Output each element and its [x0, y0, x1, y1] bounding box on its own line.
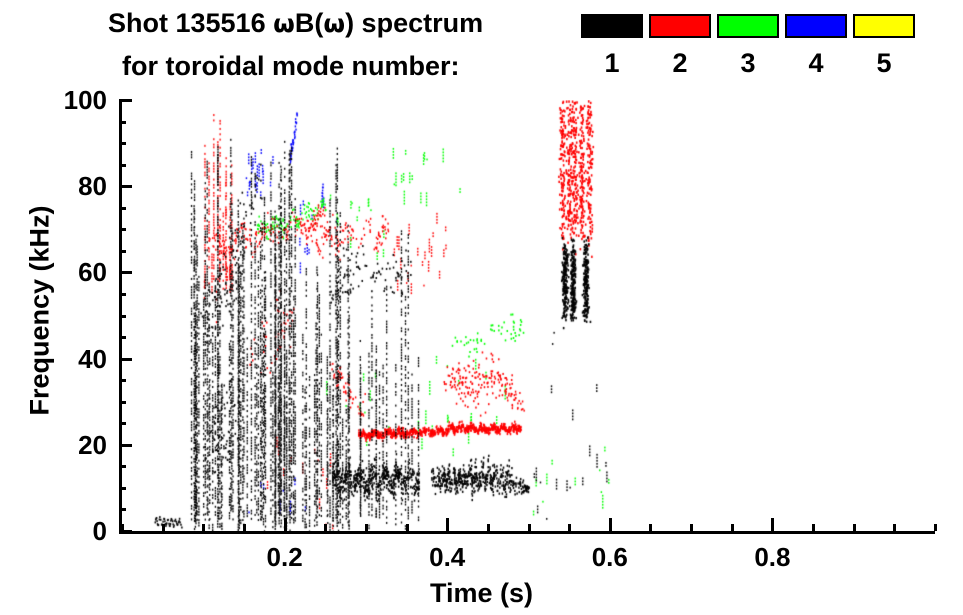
y-tick-25 [119, 422, 126, 425]
y-tick-35 [119, 379, 126, 382]
y-tick-20 [119, 444, 132, 447]
y-tick-65 [119, 250, 126, 253]
plot-area [119, 100, 935, 534]
legend-swatch-4 [785, 14, 847, 38]
x-tick-0.4 [446, 518, 449, 531]
y-tick-100 [119, 99, 132, 102]
y-tick-55 [119, 293, 126, 296]
y-tick-label-0: 0 [27, 518, 107, 544]
x-tick-0.3 [365, 524, 368, 531]
legend-swatch-2 [649, 14, 711, 38]
x-tick-label-0.8: 0.8 [732, 544, 812, 570]
y-tick-90 [119, 142, 126, 145]
x-tick-0.8 [771, 518, 774, 531]
x-tick-0.75 [731, 524, 734, 531]
y-tick-75 [119, 207, 126, 210]
x-tick-0.05 [162, 524, 165, 531]
x-tick-0.7 [690, 524, 693, 531]
y-axis-title: Frequency (kHz) [25, 111, 56, 511]
x-tick-0.1 [202, 524, 205, 531]
x-tick-0.65 [649, 524, 652, 531]
legend-swatch-3 [717, 14, 779, 38]
y-tick-60 [119, 271, 132, 274]
x-tick-0.45 [487, 524, 490, 531]
legend-label-4: 4 [785, 48, 847, 78]
x-tick-label-0.6: 0.6 [570, 544, 650, 570]
x-tick-0.85 [812, 524, 815, 531]
y-tick-30 [119, 401, 126, 404]
y-tick-45 [119, 336, 126, 339]
y-tick-label-100: 100 [27, 87, 107, 113]
x-tick-0.2 [284, 518, 287, 531]
x-tick-0.25 [324, 524, 327, 531]
x-tick-0.6 [609, 518, 612, 531]
y-tick-15 [119, 465, 126, 468]
x-tick-0.95 [893, 524, 896, 531]
legend-label-2: 2 [649, 48, 711, 78]
y-tick-50 [119, 315, 126, 318]
x-tick-label-0.2: 0.2 [245, 544, 325, 570]
x-axis-title: Time (s) [0, 578, 963, 609]
y-tick-70 [119, 228, 126, 231]
y-tick-40 [119, 358, 132, 361]
x-tick-1 [934, 524, 937, 531]
legend-label-1: 1 [581, 48, 643, 78]
legend-label-3: 3 [717, 48, 779, 78]
legend-swatch-5 [853, 14, 915, 38]
x-tick-0.55 [568, 524, 571, 531]
x-tick-0.5 [528, 524, 531, 531]
y-tick-5 [119, 508, 126, 511]
x-tick-label-0.4: 0.4 [407, 544, 487, 570]
x-tick-0.15 [243, 524, 246, 531]
y-tick-80 [119, 185, 132, 188]
spectrogram-canvas [122, 100, 935, 531]
legend-swatch-1 [581, 14, 643, 38]
legend-label-5: 5 [853, 48, 915, 78]
y-tick-95 [119, 121, 126, 124]
y-tick-0 [119, 530, 132, 533]
legend: 12345 [0, 0, 963, 92]
y-tick-85 [119, 164, 126, 167]
x-tick-0.35 [406, 524, 409, 531]
spectrogram-figure: Shot 135516 ωB(ω) spectrum for toroidal … [0, 0, 963, 615]
x-tick-0.9 [853, 524, 856, 531]
y-tick-10 [119, 487, 126, 490]
